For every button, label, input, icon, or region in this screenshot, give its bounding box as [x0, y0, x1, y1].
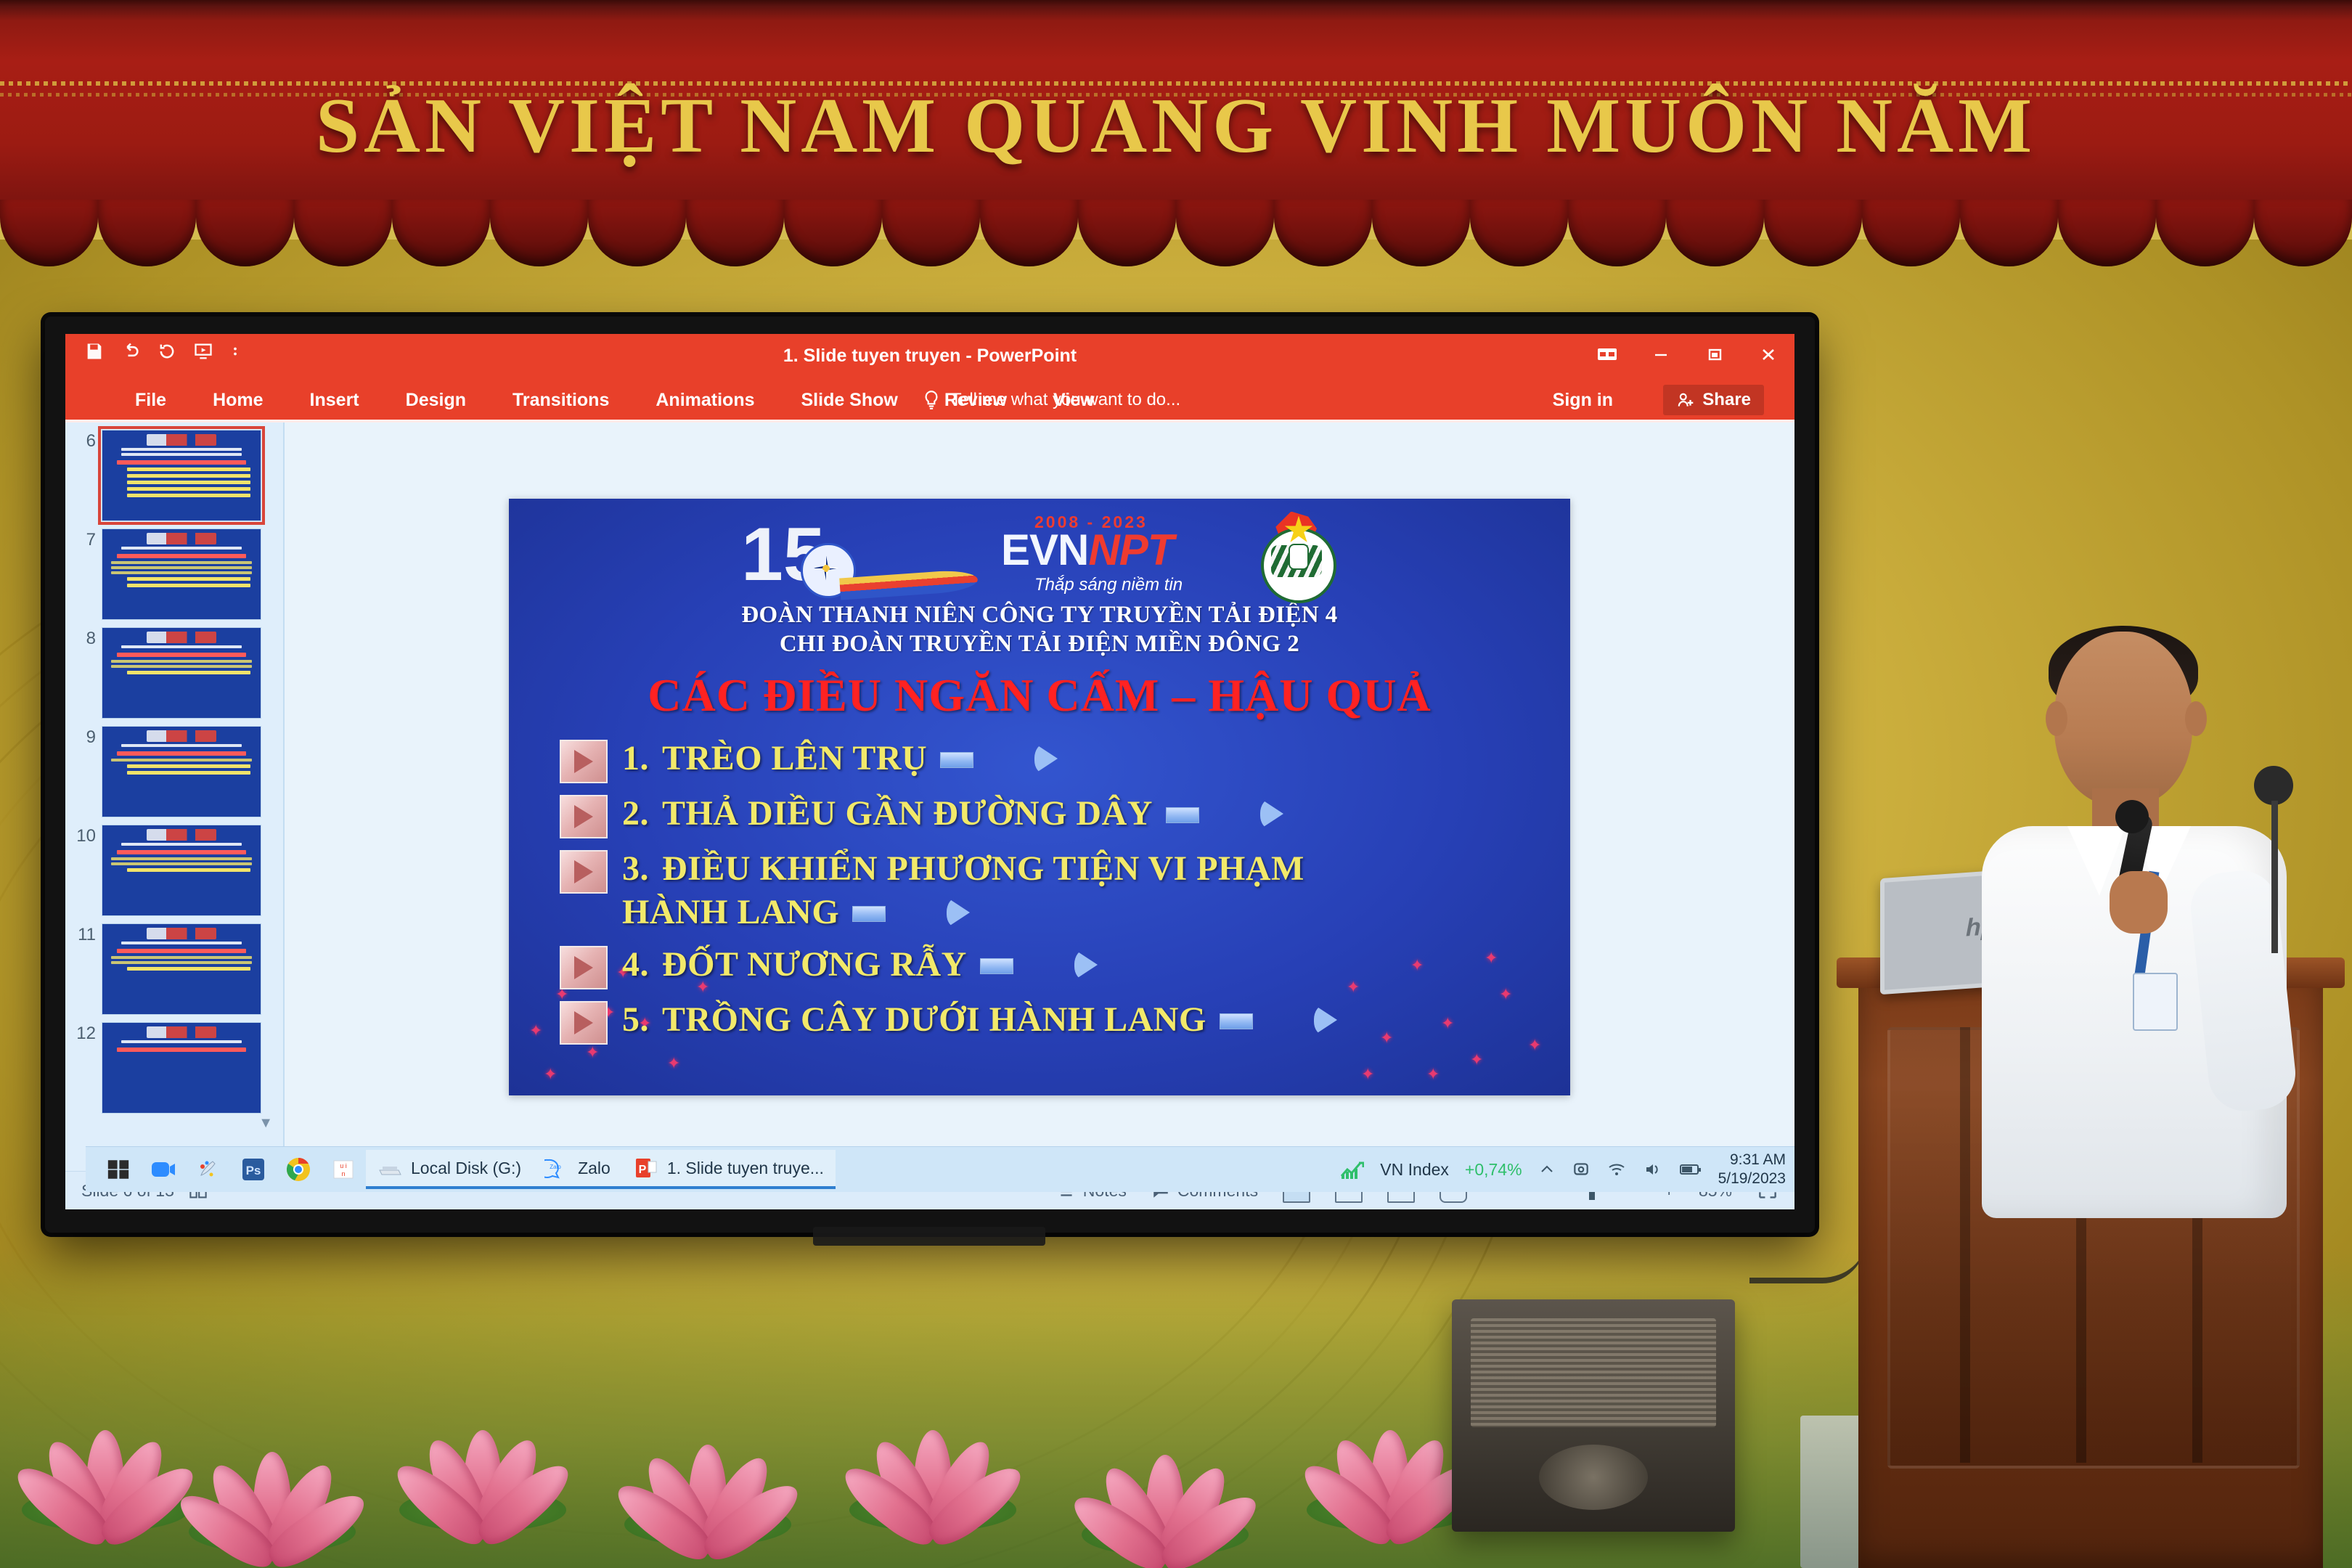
battery-icon[interactable]: [1679, 1161, 1702, 1177]
share-label: Share: [1702, 390, 1751, 410]
start-button[interactable]: [96, 1147, 141, 1192]
powerpoint-icon: P: [634, 1156, 658, 1180]
list-item[interactable]: 3. ĐIỀU KHIỂN PHƯƠNG TIỆN VI PHẠM HÀNH L…: [560, 847, 1541, 934]
windows-taskbar: Ps u in Local Disk (G:) Zalo Zalo P: [86, 1146, 1794, 1192]
red-banner: SẢN VIỆT NAM QUANG VINH MUÔN NĂM: [0, 0, 2352, 205]
svg-text:P: P: [639, 1164, 647, 1176]
list-item-text: 3. ĐIỀU KHIỂN PHƯƠNG TIỆN VI PHẠM HÀNH L…: [622, 847, 1304, 934]
lotus-flower: [1089, 1397, 1241, 1564]
editor-work-area: 6 7: [65, 422, 1794, 1171]
thumbnail-preview[interactable]: [102, 627, 261, 719]
evn-swoosh-decor: [839, 568, 979, 600]
unikey-app-icon[interactable]: u in: [321, 1147, 366, 1192]
list-item-text: 1. TRÈO LÊN TRỤ: [622, 737, 994, 780]
thumbnail-number: 9: [71, 726, 96, 746]
arrow-right-icon: [980, 950, 1034, 980]
display-stand: [813, 1227, 1045, 1246]
list-item-label: ĐIỀU KHIỂN PHƯƠNG TIỆN VI PHẠM: [662, 847, 1304, 891]
svg-text:Zalo: Zalo: [550, 1164, 561, 1170]
presenter-head: [2054, 632, 2192, 806]
video-play-icon[interactable]: [560, 795, 608, 838]
tab-design[interactable]: Design: [401, 387, 470, 414]
prohibition-list: 1. TRÈO LÊN TRỤ: [538, 737, 1541, 1045]
tell-me-search[interactable]: Tell me what you want to do...: [922, 377, 1180, 422]
svg-text:Ps: Ps: [246, 1164, 261, 1177]
list-item[interactable]: 5. TRỒNG CÂY DƯỚI HÀNH LANG: [560, 998, 1541, 1045]
list-item-label: THẢ DIỀU GẦN ĐƯỜNG DÂY: [662, 792, 1153, 836]
display-screen: 1. Slide tuyen truyen - PowerPoint: [65, 334, 1794, 1209]
slide-logo-row: 15 2008 - 2023 EVNNPT: [538, 509, 1541, 600]
taskbar-window-label: Local Disk (G:): [411, 1159, 521, 1178]
chrome-app-icon[interactable]: [276, 1147, 321, 1192]
thumbnail-number: 7: [71, 528, 96, 549]
organization-line-1: ĐOÀN THANH NIÊN CÔNG TY TRUYỀN TẢI ĐIỆN …: [538, 600, 1541, 629]
arrow-right-icon: [940, 743, 994, 774]
paint-app-icon[interactable]: [186, 1147, 231, 1192]
list-item-text: 4. ĐỐT NƯƠNG RẪY: [622, 943, 1034, 987]
lotus-flower: [196, 1394, 348, 1561]
onedrive-icon[interactable]: [1572, 1160, 1591, 1179]
current-slide[interactable]: ✦✦ ✦✦ ✦✦ ✦✦ ✦✦ ✦✦ ✦✦ ✦✦ ✦✦: [509, 499, 1570, 1095]
slide-content: 15 2008 - 2023 EVNNPT: [509, 499, 1570, 1045]
volume-icon[interactable]: [1643, 1160, 1663, 1179]
presenter-hand: [2110, 871, 2168, 934]
taskbar-window-powerpoint[interactable]: P 1. Slide tuyen truye...: [622, 1150, 836, 1189]
lotus-flower: [1314, 1372, 1466, 1539]
list-item-label: TRÈO LÊN TRỤ: [662, 737, 927, 780]
brand-tagline: Thắp sáng niềm tin: [1034, 575, 1183, 595]
svg-text:n: n: [341, 1170, 345, 1177]
stock-change: +0,74%: [1465, 1160, 1522, 1180]
thumbnail-slide-11[interactable]: 11: [65, 916, 283, 1015]
tab-file[interactable]: File: [131, 387, 171, 414]
window-controls: [1593, 340, 1783, 369]
presentation-display: 1. Slide tuyen truyen - PowerPoint: [45, 317, 1815, 1233]
thumbnail-number: 12: [71, 1022, 96, 1042]
person-add-icon: [1676, 391, 1695, 409]
brand-wordmark: EVNNPT: [1001, 528, 1173, 572]
video-play-icon[interactable]: [560, 1001, 608, 1045]
screenshot-root: SẢN VIỆT NAM QUANG VINH MUÔN NĂM: [0, 0, 2352, 1568]
restore-icon[interactable]: [1700, 340, 1729, 369]
clock[interactable]: 9:31 AM 5/19/2023: [1718, 1151, 1786, 1188]
list-item-label-line2: HÀNH LANG: [622, 891, 839, 934]
tab-animations[interactable]: Animations: [651, 387, 759, 414]
thumbnail-slide-6[interactable]: 6: [65, 422, 283, 521]
taskbar-window-zalo[interactable]: Zalo Zalo: [533, 1150, 622, 1189]
window-title: 1. Slide tuyen truyen - PowerPoint: [65, 334, 1794, 377]
thumbnail-slide-10[interactable]: 10: [65, 817, 283, 916]
list-item-number: 2.: [622, 792, 649, 836]
loudspeaker: [1452, 1299, 1735, 1532]
presenter: [1960, 632, 2337, 1357]
list-item[interactable]: 2. THẢ DIỀU GẦN ĐƯỜNG DÂY: [560, 792, 1541, 838]
microphone-head-icon: [2254, 766, 2293, 805]
thumbnail-preview[interactable]: [102, 726, 261, 817]
sign-in-button[interactable]: Sign in: [1553, 377, 1613, 422]
list-item[interactable]: 4. ĐỐT NƯƠNG RẪY: [560, 943, 1541, 989]
list-item-label: ĐỐT NƯƠNG RẪY: [662, 943, 967, 987]
thumbnail-number: 10: [71, 825, 96, 845]
list-item-label: TRỒNG CÂY DƯỚI HÀNH LANG: [662, 998, 1206, 1042]
video-play-icon[interactable]: [560, 740, 608, 783]
svg-text:u i: u i: [340, 1162, 347, 1169]
arrow-right-icon: [1166, 799, 1220, 829]
slide-canvas-area: ✦✦ ✦✦ ✦✦ ✦✦ ✦✦ ✦✦ ✦✦ ✦✦ ✦✦: [285, 422, 1794, 1171]
share-button[interactable]: Share: [1663, 385, 1764, 415]
lightbulb-icon: [922, 389, 941, 411]
brand-evn: EVN: [1001, 526, 1088, 574]
presenter-badge: [2133, 973, 2178, 1031]
clock-time: 9:31 AM: [1730, 1151, 1786, 1169]
thumbnail-number: 11: [71, 923, 96, 944]
list-item-text: 5. TRỒNG CÂY DƯỚI HÀNH LANG: [622, 998, 1273, 1042]
arrow-right-icon: [1220, 1005, 1273, 1035]
lotus-flower: [632, 1387, 784, 1553]
slide-title: CÁC ĐIỀU NGĂN CẤM – HẬU QUẢ: [538, 669, 1541, 722]
photoshop-app-icon[interactable]: Ps: [231, 1147, 276, 1192]
evn-npt-wordmark: 2008 - 2023 EVNNPT Thắp sáng niềm tin: [997, 511, 1236, 598]
list-item-number: 4.: [622, 943, 649, 987]
list-item-text: 2. THẢ DIỀU GẦN ĐƯỜNG DÂY: [622, 792, 1220, 836]
thumbnail-preview[interactable]: [102, 528, 261, 620]
tell-me-label: Tell me what you want to do...: [951, 390, 1180, 410]
tab-home[interactable]: Home: [208, 387, 267, 414]
thumbnail-preview[interactable]: [102, 1022, 261, 1114]
organization-line-2: CHI ĐOÀN TRUYỀN TẢI ĐIỆN MIỀN ĐÔNG 2: [538, 629, 1541, 658]
stock-label[interactable]: VN Index: [1380, 1160, 1449, 1180]
cable-decor: [1749, 1191, 1866, 1283]
lotus-flower: [29, 1372, 181, 1539]
thumbnail-slide-8[interactable]: 8: [65, 620, 283, 719]
list-item-number: 5.: [622, 998, 649, 1042]
zalo-icon: Zalo: [544, 1157, 569, 1179]
arrow-right-icon: [852, 897, 906, 928]
list-item-number: 3.: [622, 847, 649, 891]
stock-trending-up-icon: [1339, 1159, 1364, 1180]
thumbnail-preview[interactable]: [102, 430, 261, 521]
thumbnail-number: 6: [71, 430, 96, 450]
youth-union-emblem-icon: [1255, 512, 1341, 597]
ribbon-tab-bar: File Home Insert Design Transitions Anim…: [65, 377, 1794, 422]
tab-slide-show[interactable]: Slide Show: [797, 387, 902, 414]
drive-icon: [377, 1159, 402, 1177]
slide-thumbnail-pane[interactable]: 6 7: [65, 422, 285, 1171]
banner-valance: [0, 200, 2352, 279]
brand-npt: NPT: [1088, 526, 1173, 574]
tab-transitions[interactable]: Transitions: [508, 387, 613, 414]
anniversary-15-logo: 15: [738, 511, 978, 598]
powerpoint-window: 1. Slide tuyen truyen - PowerPoint: [65, 334, 1794, 1209]
video-play-icon[interactable]: [560, 946, 608, 989]
wifi-icon[interactable]: [1606, 1161, 1627, 1178]
video-play-icon[interactable]: [560, 850, 608, 894]
banner-slogan: SẢN VIỆT NAM QUANG VINH MUÔN NĂM: [0, 81, 2352, 171]
zoom-app-icon[interactable]: [141, 1147, 186, 1192]
tab-insert[interactable]: Insert: [306, 387, 364, 414]
microphone-stand: [2232, 766, 2319, 955]
thumbnail-slide-7[interactable]: 7: [65, 521, 283, 620]
system-tray: VN Index +0,74% 9:31 AM 5/19/2023: [1339, 1151, 1794, 1188]
show-hidden-icons-chevron[interactable]: [1538, 1161, 1556, 1178]
list-item[interactable]: 1. TRÈO LÊN TRỤ: [560, 737, 1541, 783]
lotus-flower: [407, 1372, 559, 1539]
lotus-flower: [857, 1372, 1009, 1539]
clock-date: 5/19/2023: [1718, 1169, 1786, 1188]
minimize-icon[interactable]: [1646, 340, 1675, 369]
taskbar-window-label: Zalo: [578, 1159, 611, 1178]
thumbnail-preview[interactable]: [102, 923, 261, 1015]
taskbar-window-local-disk[interactable]: Local Disk (G:): [366, 1150, 533, 1189]
ribbon-display-options-icon[interactable]: [1593, 340, 1622, 369]
title-bar: 1. Slide tuyen truyen - PowerPoint: [65, 334, 1794, 377]
thumbnail-slide-12[interactable]: 12: [65, 1015, 283, 1114]
thumbnail-scroll-down-icon[interactable]: ▼: [258, 1115, 273, 1132]
thumbnail-slide-9[interactable]: 9: [65, 719, 283, 817]
list-item-number: 1.: [622, 737, 649, 780]
taskbar-window-label: 1. Slide tuyen truye...: [667, 1159, 824, 1178]
thumbnail-preview[interactable]: [102, 825, 261, 916]
thumbnail-number: 8: [71, 627, 96, 648]
close-icon[interactable]: [1754, 340, 1783, 369]
